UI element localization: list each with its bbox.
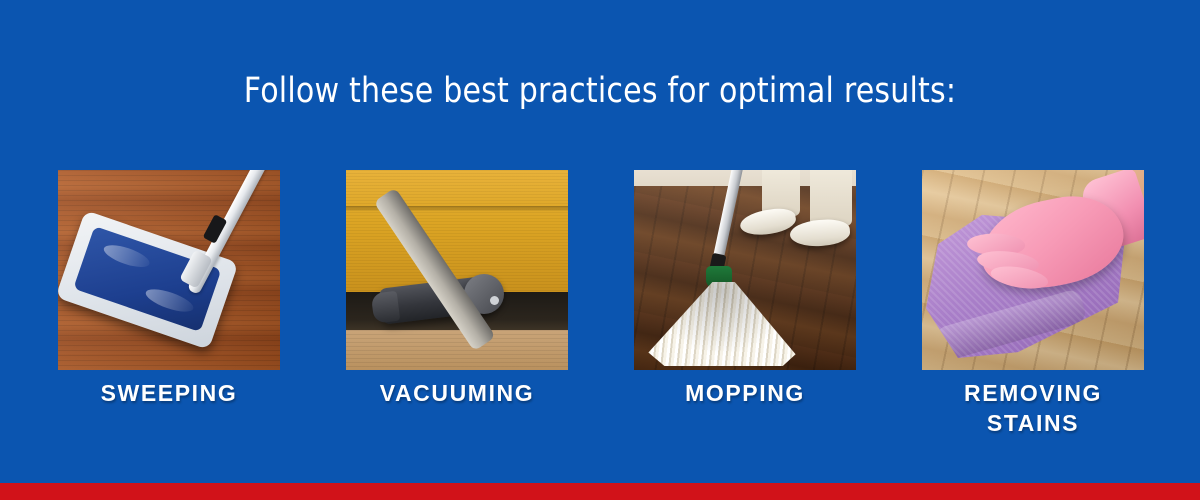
practice-card-mopping[interactable]: MOPPING [634,170,856,370]
mopping-photo [634,170,856,370]
practice-card-removing-stains[interactable]: REMOVING STAINS [922,170,1144,370]
trouser-leg [810,170,852,226]
page-title: Follow these best practices for optimal … [84,70,1116,112]
mop-pad-highlight [101,241,152,272]
cleaning-tips-banner: Follow these best practices for optimal … [0,0,1200,500]
practice-card-vacuuming[interactable]: VACUUMING [346,170,568,370]
vacuum-joint-pin [490,296,499,305]
practice-card-label: REMOVING STAINS [902,378,1164,438]
wood-floor-texture [346,330,568,370]
practice-card-grid: SWEEPING VACUUMING [58,170,1144,370]
mop-pad-highlight [143,285,195,316]
sweeping-photo [58,170,280,370]
practice-card-label: MOPPING [614,378,876,408]
practice-card-label: VACUUMING [326,378,588,408]
vacuuming-photo [346,170,568,370]
practice-card-sweeping[interactable]: SWEEPING [58,170,280,370]
bottom-accent-bar [0,483,1200,500]
removing-stains-photo [922,170,1144,370]
practice-card-label: SWEEPING [38,378,300,408]
